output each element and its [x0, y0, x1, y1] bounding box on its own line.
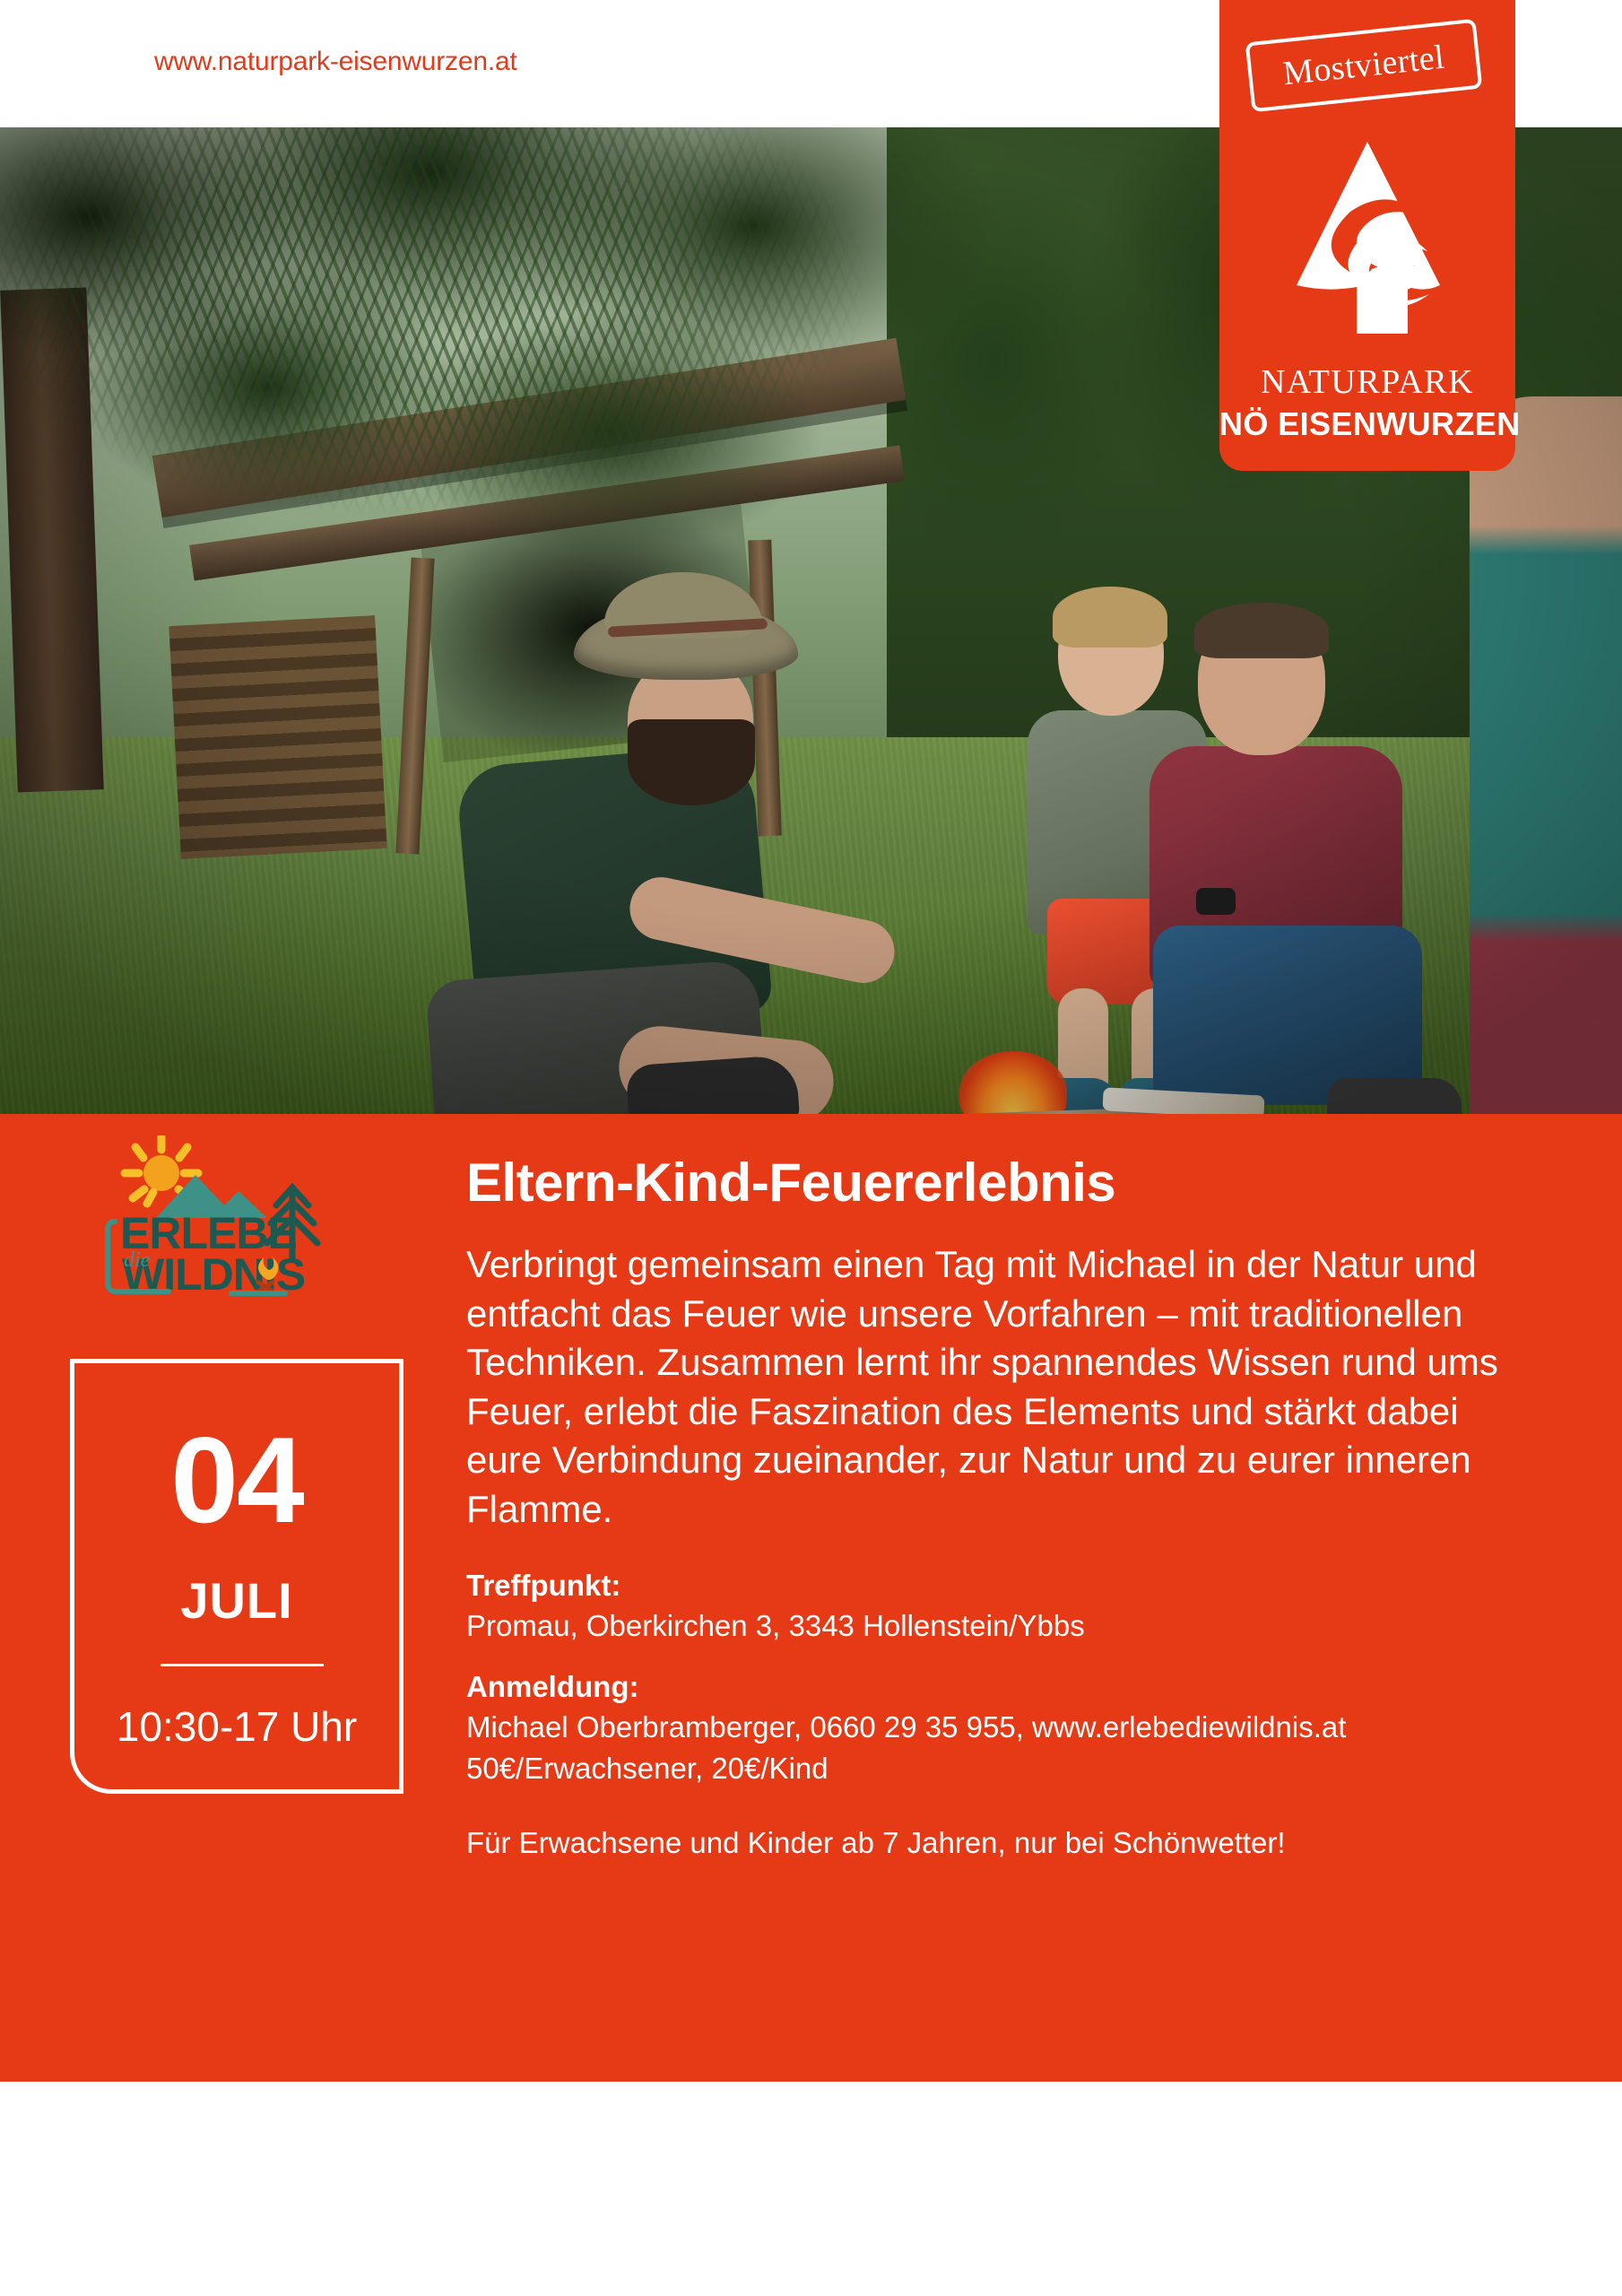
meeting-point-block: Treffpunkt: Promau, Oberkirchen 3, 3343 … — [466, 1565, 1551, 1647]
registration-label: Anmeldung: — [466, 1666, 1551, 1708]
meeting-point-value: Promau, Oberkirchen 3, 3343 Hollenstein/… — [466, 1605, 1551, 1647]
registration-value[interactable]: Michael Oberbramberger, 0660 29 35 955, … — [466, 1707, 1551, 1748]
erlebe-die-wildnis-logo: ERLEBE WILDNIS die — [88, 1135, 348, 1297]
naturpark-badge: Mostviertel NATURPARK NÖ EISENWURZEN — [1219, 0, 1515, 471]
tree-wave-icon — [1264, 135, 1470, 341]
event-price: 50€/Erwachsener, 20€/Kind — [466, 1748, 1551, 1789]
event-title: Eltern-Kind-Feuererlebnis — [466, 1152, 1551, 1213]
photo-conifer-needles — [0, 127, 1112, 674]
date-time: 10:30-17 Uhr — [74, 1702, 399, 1751]
event-content: Eltern-Kind-Feuererlebnis Verbringt geme… — [466, 1152, 1551, 1860]
registration-block: Anmeldung: Michael Oberbramberger, 0660 … — [466, 1666, 1551, 1789]
website-url[interactable]: www.naturpark-eisenwurzen.at — [154, 47, 517, 77]
naturpark-name-line2: NÖ EISENWURZEN — [1219, 405, 1515, 443]
mostviertel-stamp: Mostviertel — [1245, 19, 1483, 113]
meeting-point-label: Treffpunkt: — [466, 1565, 1551, 1606]
event-description: Verbringt gemeinsam einen Tag mit Michae… — [466, 1240, 1520, 1535]
event-note: Für Erwachsene und Kinder ab 7 Jahren, n… — [466, 1826, 1551, 1860]
date-divider — [160, 1664, 324, 1666]
date-month: JULI — [74, 1571, 399, 1630]
svg-text:die: die — [124, 1248, 151, 1272]
date-day: 04 — [74, 1419, 399, 1541]
date-card: 04 JULI 10:30-17 Uhr — [70, 1359, 403, 1794]
mostviertel-label: Mostviertel — [1281, 38, 1446, 94]
photo-person-partial-right — [1470, 396, 1622, 1114]
naturpark-name-line1: NATURPARK — [1219, 362, 1515, 402]
wildnis-wordmark: ERLEBE WILDNIS die — [120, 1208, 305, 1297]
event-poster: www.naturpark-eisenwurzen.at — [0, 0, 1622, 2296]
poster-footer: ★ NATURPARKE NIEDERÖSTERREICH niederöste… — [0, 2082, 1622, 2296]
